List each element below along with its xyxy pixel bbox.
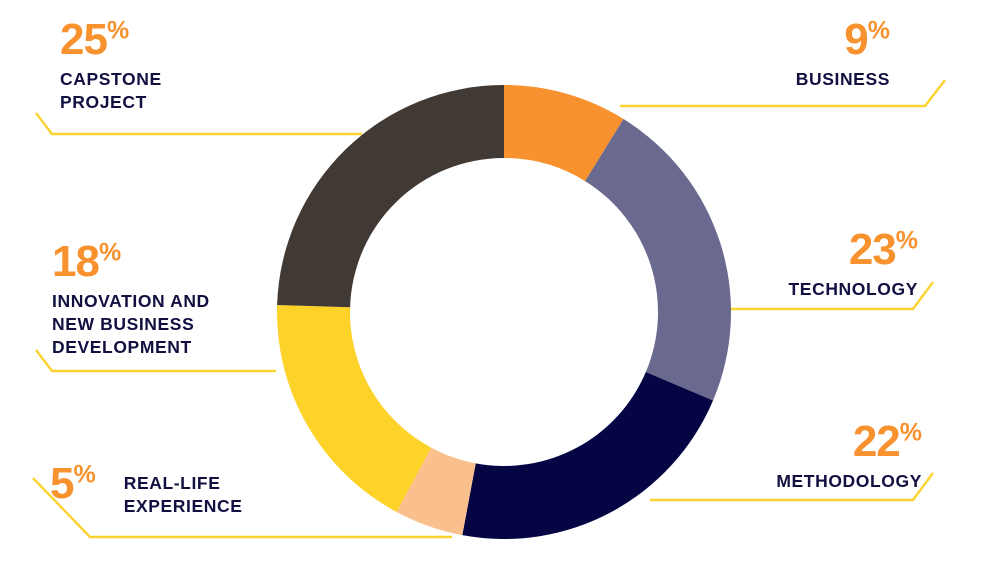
technology-label-text: TECHNOLOGY <box>789 278 918 301</box>
donut-segment-capstone[interactable] <box>277 85 504 307</box>
business-percent: 9% <box>796 18 890 62</box>
business-label-text: BUSINESS <box>796 68 890 91</box>
callout-capstone-project[interactable]: 25% CAPSTONE PROJECT <box>60 18 162 114</box>
donut-segment-methodology[interactable] <box>462 372 713 539</box>
reallife-percent: 5% <box>50 462 96 506</box>
capstone-percent: 25% <box>60 18 162 62</box>
callout-real-life-experience[interactable]: 5% REAL-LIFE EXPERIENCE <box>50 466 243 518</box>
innovation-percent: 18% <box>52 240 210 284</box>
callout-technology[interactable]: 23% TECHNOLOGY <box>789 228 918 301</box>
donut-segment-innovation[interactable] <box>277 305 431 512</box>
donut-segment-technology[interactable] <box>585 119 731 400</box>
donut-segments <box>277 85 731 539</box>
technology-percent: 23% <box>789 228 918 272</box>
methodology-percent: 22% <box>776 420 922 464</box>
callout-business[interactable]: 9% BUSINESS <box>796 18 890 91</box>
innovation-label-text: INNOVATION AND NEW BUSINESS DEVELOPMENT <box>52 290 210 359</box>
infographic-canvas: 25% CAPSTONE PROJECT 18% INNOVATION AND … <box>0 0 1006 566</box>
reallife-label-text: REAL-LIFE EXPERIENCE <box>124 472 243 518</box>
callout-innovation-new-business-development[interactable]: 18% INNOVATION AND NEW BUSINESS DEVELOPM… <box>52 240 210 359</box>
callout-methodology[interactable]: 22% METHODOLOGY <box>776 420 922 493</box>
capstone-label-text: CAPSTONE PROJECT <box>60 68 162 114</box>
methodology-label-text: METHODOLOGY <box>776 470 922 493</box>
